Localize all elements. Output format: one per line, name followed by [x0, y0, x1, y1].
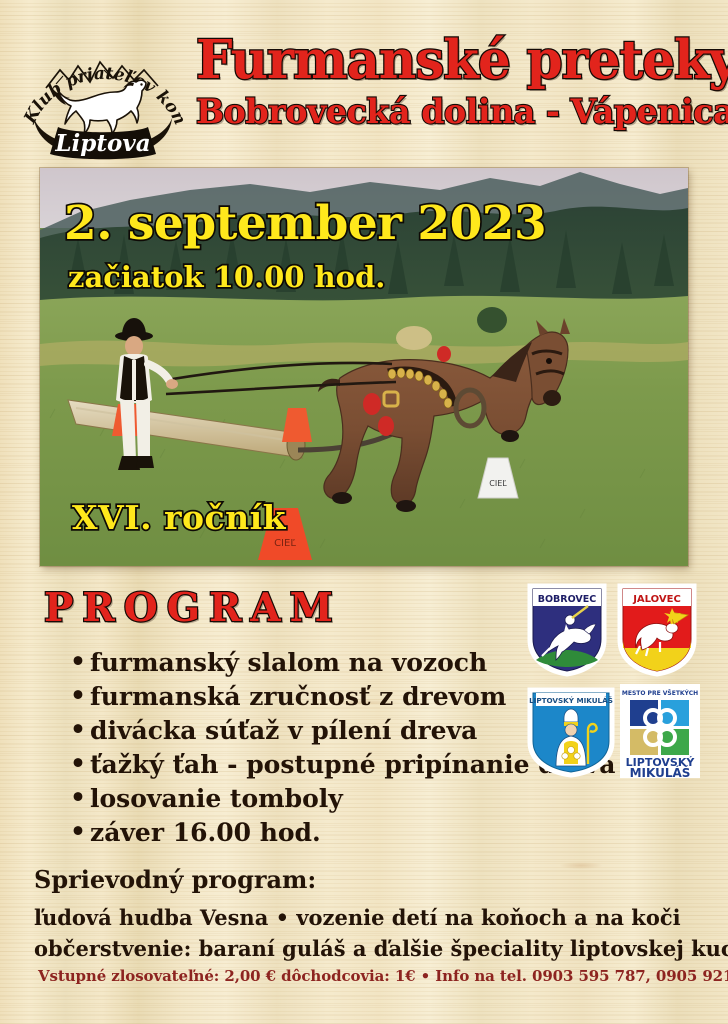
side-program-block: Sprievodný program: ľudová hudba Vesna •… [34, 865, 714, 963]
sponsor-crests: BOBROVEC JALOVEC [516, 582, 702, 784]
coat-of-arms-jalovec: JALOVEC [616, 582, 698, 678]
program-item: furmanský slalom na vozoch [70, 646, 540, 680]
program-item: divácka súťaž v pílení dreva [70, 714, 540, 748]
city-logo-line2: MIKULÁŠ [630, 765, 691, 778]
footer-info: Vstupné zlosovateľné: 2,00 € dôchodcovia… [38, 967, 728, 985]
liptovsky-mikulas-city-logo: MESTO PRE VŠETKÝCH LIPTOVSKÝ MIKULÁŠ [620, 684, 700, 778]
svg-text:CIEĽ: CIEĽ [274, 538, 296, 549]
crest-label: LIPTOVSKÝ MIKULÁŠ [529, 696, 613, 705]
crest-label: BOBROVEC [538, 594, 597, 605]
program-item: losovanie tomboly [70, 782, 540, 816]
program-item: ťažký ťah - postupné pripínanie dreva [70, 748, 540, 782]
city-logo-tagline: MESTO PRE VŠETKÝCH [622, 690, 698, 697]
title-block: Furmanské preteky Bobrovecká dolina - Vá… [196, 32, 716, 132]
svg-text:CIEĽ: CIEĽ [489, 479, 507, 488]
poster-root: Klub priateľov koní [0, 0, 728, 1024]
side-program-line: ľudová hudba Vesna • vozenie detí na koň… [34, 903, 714, 932]
banner-label: Liptova [54, 130, 150, 157]
program-item: záver 16.00 hod. [70, 816, 540, 850]
coat-of-arms-liptovsky-mikulas: LIPTOVSKÝ MIKULÁŠ [526, 686, 616, 778]
side-program-heading: Sprievodný program: [34, 865, 714, 895]
club-logo: Klub priateľov koní [16, 26, 191, 168]
coat-of-arms-bobrovec: BOBROVEC [526, 582, 608, 678]
poster-title: Furmanské preteky [196, 32, 700, 89]
poster-header: Klub priateľov koní [0, 18, 728, 158]
side-program-line: občerstvenie: baraní guláš a ďalšie špec… [34, 934, 714, 963]
poster-subtitle: Bobrovecká dolina - Vápenica [196, 92, 706, 132]
crest-label: JALOVEC [632, 594, 681, 605]
program-heading: PROGRAM [44, 585, 342, 631]
program-list: furmanský slalom na vozoch furmanská zru… [70, 646, 540, 850]
program-item: furmanská zručnosť z drevom [70, 680, 540, 714]
event-photo: CIEĽ CIEĽ [40, 168, 688, 566]
